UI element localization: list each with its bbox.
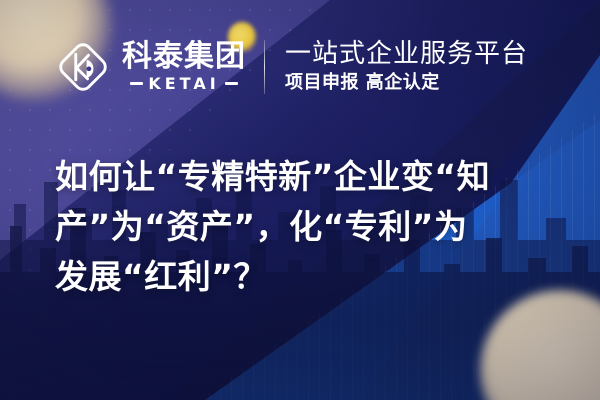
header-divider <box>264 40 265 94</box>
logo-company-name-en-row: KETAI <box>130 76 237 92</box>
logo-dash-right-icon <box>225 82 238 85</box>
slogan-main-text: 一站式企业服务平台 <box>285 40 528 69</box>
headline-line-1: 如何让“专精特新”企业变“知 <box>55 152 560 202</box>
logo-company-name-en: KETAI <box>148 76 219 92</box>
headline-line-3: 发展“红利”？ <box>55 252 560 302</box>
logo-wordmark: 科泰集团 KETAI <box>122 42 246 92</box>
logo-company-name-cn: 科泰集团 <box>122 42 246 73</box>
slogan-block: 一站式企业服务平台 项目申报 高企认定 <box>285 40 528 94</box>
promo-banner: 科泰集团 KETAI 一站式企业服务平台 项目申报 高企认定 如何让“专精特新”… <box>0 0 600 400</box>
brand-header: 科泰集团 KETAI 一站式企业服务平台 项目申报 高企认定 <box>54 38 528 96</box>
logo-dash-left-icon <box>130 82 143 85</box>
headline-line-2: 产”为“资产”，化“专利”为 <box>55 202 560 252</box>
slogan-sub-text: 项目申报 高企认定 <box>285 72 528 94</box>
ketai-diamond-monogram-icon <box>54 38 112 96</box>
company-logo[interactable]: 科泰集团 KETAI <box>54 38 246 96</box>
page-title: 如何让“专精特新”企业变“知 产”为“资产”，化“专利”为 发展“红利”？ <box>55 152 560 302</box>
